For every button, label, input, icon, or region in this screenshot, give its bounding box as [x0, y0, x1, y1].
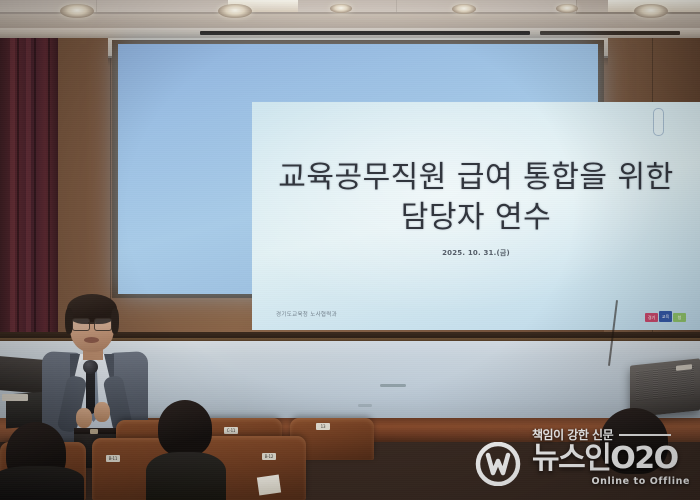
organization-logo: 경기 교육 청	[645, 311, 686, 322]
seat-number-tag: B-12	[262, 453, 276, 460]
curtain-highlight	[26, 38, 31, 338]
slide-title: 교육공무직원 급여 통합을 위한 담당자 연수	[252, 158, 700, 238]
glasses-icon	[72, 318, 112, 329]
seat-number-tag: B-11	[106, 455, 120, 462]
slide-title-line2: 담당자 연수	[252, 198, 700, 238]
hand-left	[76, 408, 92, 428]
downlight	[330, 4, 352, 13]
beam-slot	[540, 31, 680, 35]
watermark-subtitle: Online to Offline	[591, 476, 690, 487]
curtain-highlight	[10, 38, 15, 338]
glasses-lens-left	[72, 318, 90, 331]
equipment-label	[2, 394, 28, 401]
auditorium-presentation-photo: 교육공무직원 급여 통합을 위한 담당자 연수 2025. 10. 31.(금)…	[0, 0, 700, 500]
slide-footer-org: 경기도교육청 노사협력과	[276, 310, 337, 318]
curtain-fold	[17, 38, 19, 338]
audience-shoulders	[0, 466, 84, 500]
hair-side-right	[111, 308, 119, 334]
ceiling-panel	[96, 0, 237, 14]
mouth	[84, 337, 99, 343]
downlight	[60, 4, 94, 18]
presentation-slide: 교육공무직원 급여 통합을 위한 담당자 연수 2025. 10. 31.(금)…	[252, 102, 700, 330]
paperclip-icon	[653, 108, 664, 136]
hand-right	[94, 402, 110, 422]
logo-block-green: 청	[673, 313, 686, 322]
downlight	[556, 4, 578, 13]
logo-block-blue: 교육	[659, 311, 672, 322]
ceiling-panel	[396, 0, 577, 14]
downlight	[634, 4, 668, 18]
microphone-head	[83, 360, 98, 374]
audience-shoulders	[146, 452, 226, 500]
logo-block-red: 경기	[645, 313, 658, 322]
seat-number-tag: 13	[316, 423, 330, 430]
slide-date: 2025. 10. 31.(금)	[252, 248, 700, 258]
seat-number-tag: C-11	[224, 427, 238, 434]
floor-mark	[380, 384, 406, 387]
slide-title-line1: 교육공무직원 급여 통합을 위한	[278, 160, 673, 195]
downlight	[218, 4, 252, 18]
glasses-lens-right	[94, 318, 112, 331]
audience-head	[600, 408, 668, 474]
watermark-logo-icon	[474, 442, 528, 486]
beam-slot	[200, 31, 530, 35]
handout-paper	[257, 475, 281, 496]
downlight	[452, 4, 476, 14]
speaker-grille	[636, 365, 694, 401]
audience-head	[158, 400, 212, 456]
projection-screen: 교육공무직원 급여 통합을 위한 담당자 연수 2025. 10. 31.(금)…	[118, 44, 598, 294]
floor-mark	[358, 404, 372, 407]
